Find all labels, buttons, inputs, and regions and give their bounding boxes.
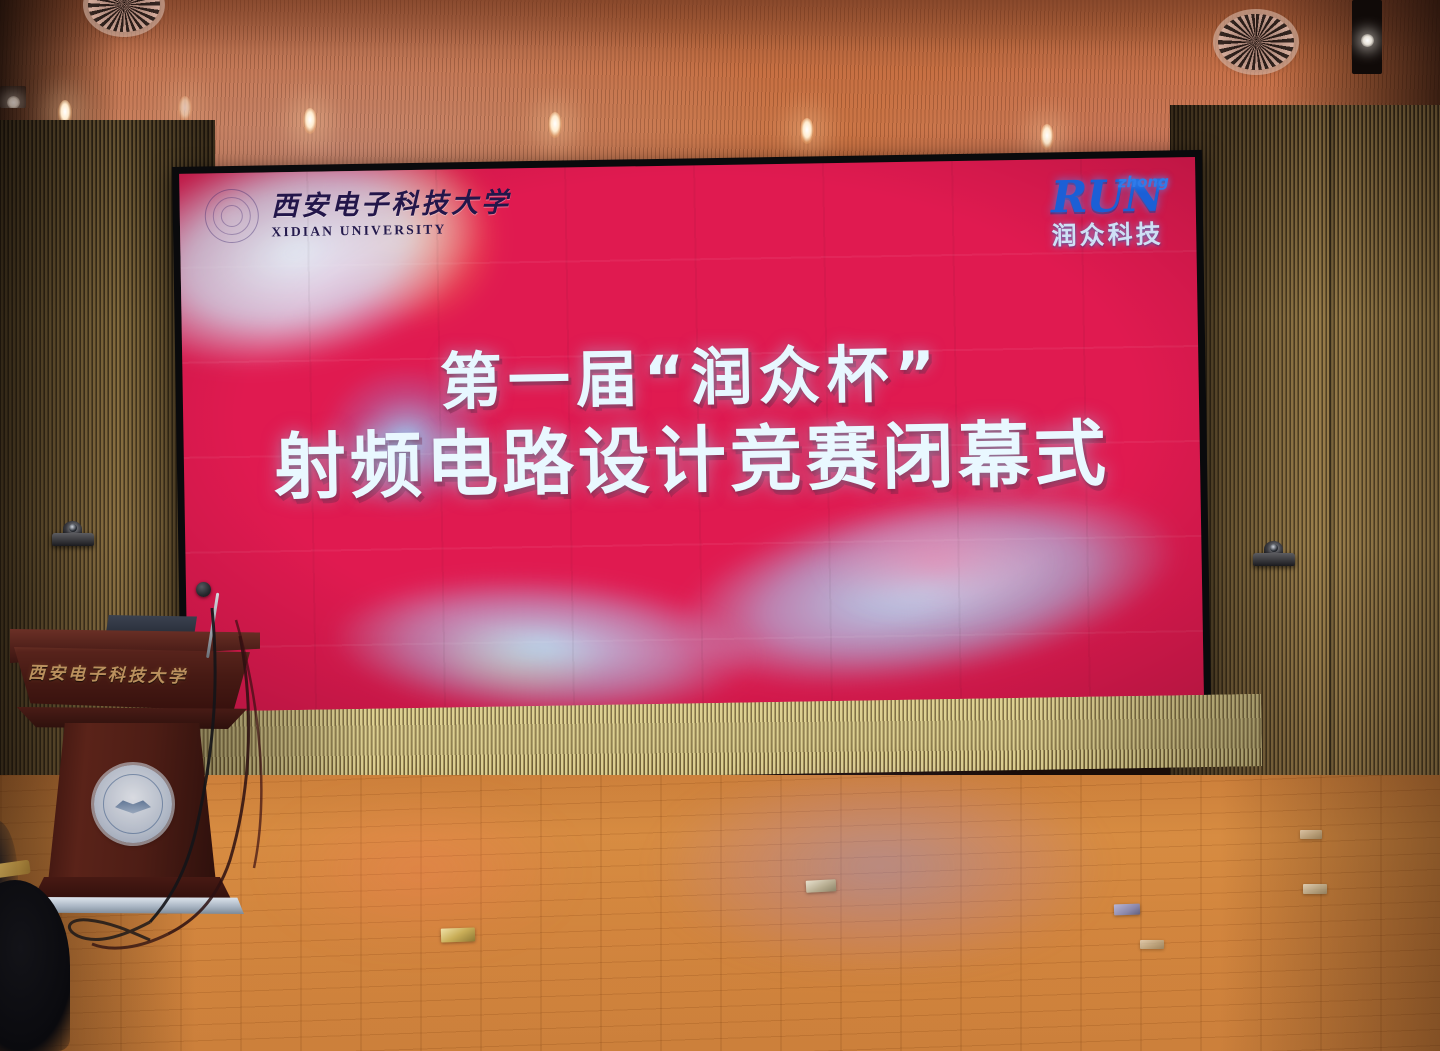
ceiling-downlight [178,96,192,122]
ceiling-downlight [303,108,317,134]
floor-socket-box [1300,830,1322,839]
floor-socket-box [1303,884,1327,894]
camera-lens-icon [1270,544,1278,552]
camera-mount [52,533,94,546]
runzhong-technology-logo: RUN zhong 润众科技 [1051,175,1164,253]
floor-socket-box [441,927,475,942]
right-wall-corner [1329,105,1335,865]
sponsor-superscript: zhong [1118,172,1169,191]
ceiling-spotlight [0,86,26,108]
ptz-camera-right [1253,540,1295,566]
xidian-university-logo: 西安电子科技大学 XIDIAN UNIVERSITY [205,185,512,244]
screen-content: 西安电子科技大学 XIDIAN UNIVERSITY RUN zhong 润众科… [179,157,1204,723]
camera-mount [1253,553,1295,566]
ceiling-downlight [800,118,814,144]
university-emblem-icon [94,765,172,843]
ceiling-downlight [548,112,562,138]
floor-socket-box [1140,940,1164,949]
university-name-chinese: 西安电子科技大学 [271,189,511,220]
university-seal-icon [205,189,260,244]
ptz-camera-left [52,520,94,546]
floor-socket-box [806,879,837,893]
banner-title-line2: 射频电路设计竞赛闭幕式 [183,412,1200,509]
speaker-podium: 西安电子科技大学 [10,615,260,925]
ceiling-vent-diffuser [1218,14,1294,70]
led-video-wall: 西安电子科技大学 XIDIAN UNIVERSITY RUN zhong 润众科… [172,150,1211,732]
university-wordmark: 西安电子科技大学 XIDIAN UNIVERSITY [271,189,512,238]
auditorium-stage-scene: 西安电子科技大学 XIDIAN UNIVERSITY RUN zhong 润众科… [0,0,1440,1051]
camera-lens-icon [69,524,77,532]
ceiling-downlight [1040,124,1054,150]
banner-title-block: 第一届“润众杯” 射频电路设计竞赛闭幕式 [182,333,1201,510]
university-name-english: XIDIAN UNIVERSITY [271,221,511,238]
floor-warm-reflection [210,780,630,980]
banner-title-line1: 第一届“润众杯” [182,333,1199,423]
sponsor-wordmark-group: RUN zhong [1051,175,1164,219]
floor-socket-box [1114,904,1140,916]
ceiling-spotlight [1352,0,1382,74]
microphone-head-icon [196,582,211,597]
floor-right-shadow [1180,775,1440,1051]
floor-screen-reflection [600,775,1160,1005]
